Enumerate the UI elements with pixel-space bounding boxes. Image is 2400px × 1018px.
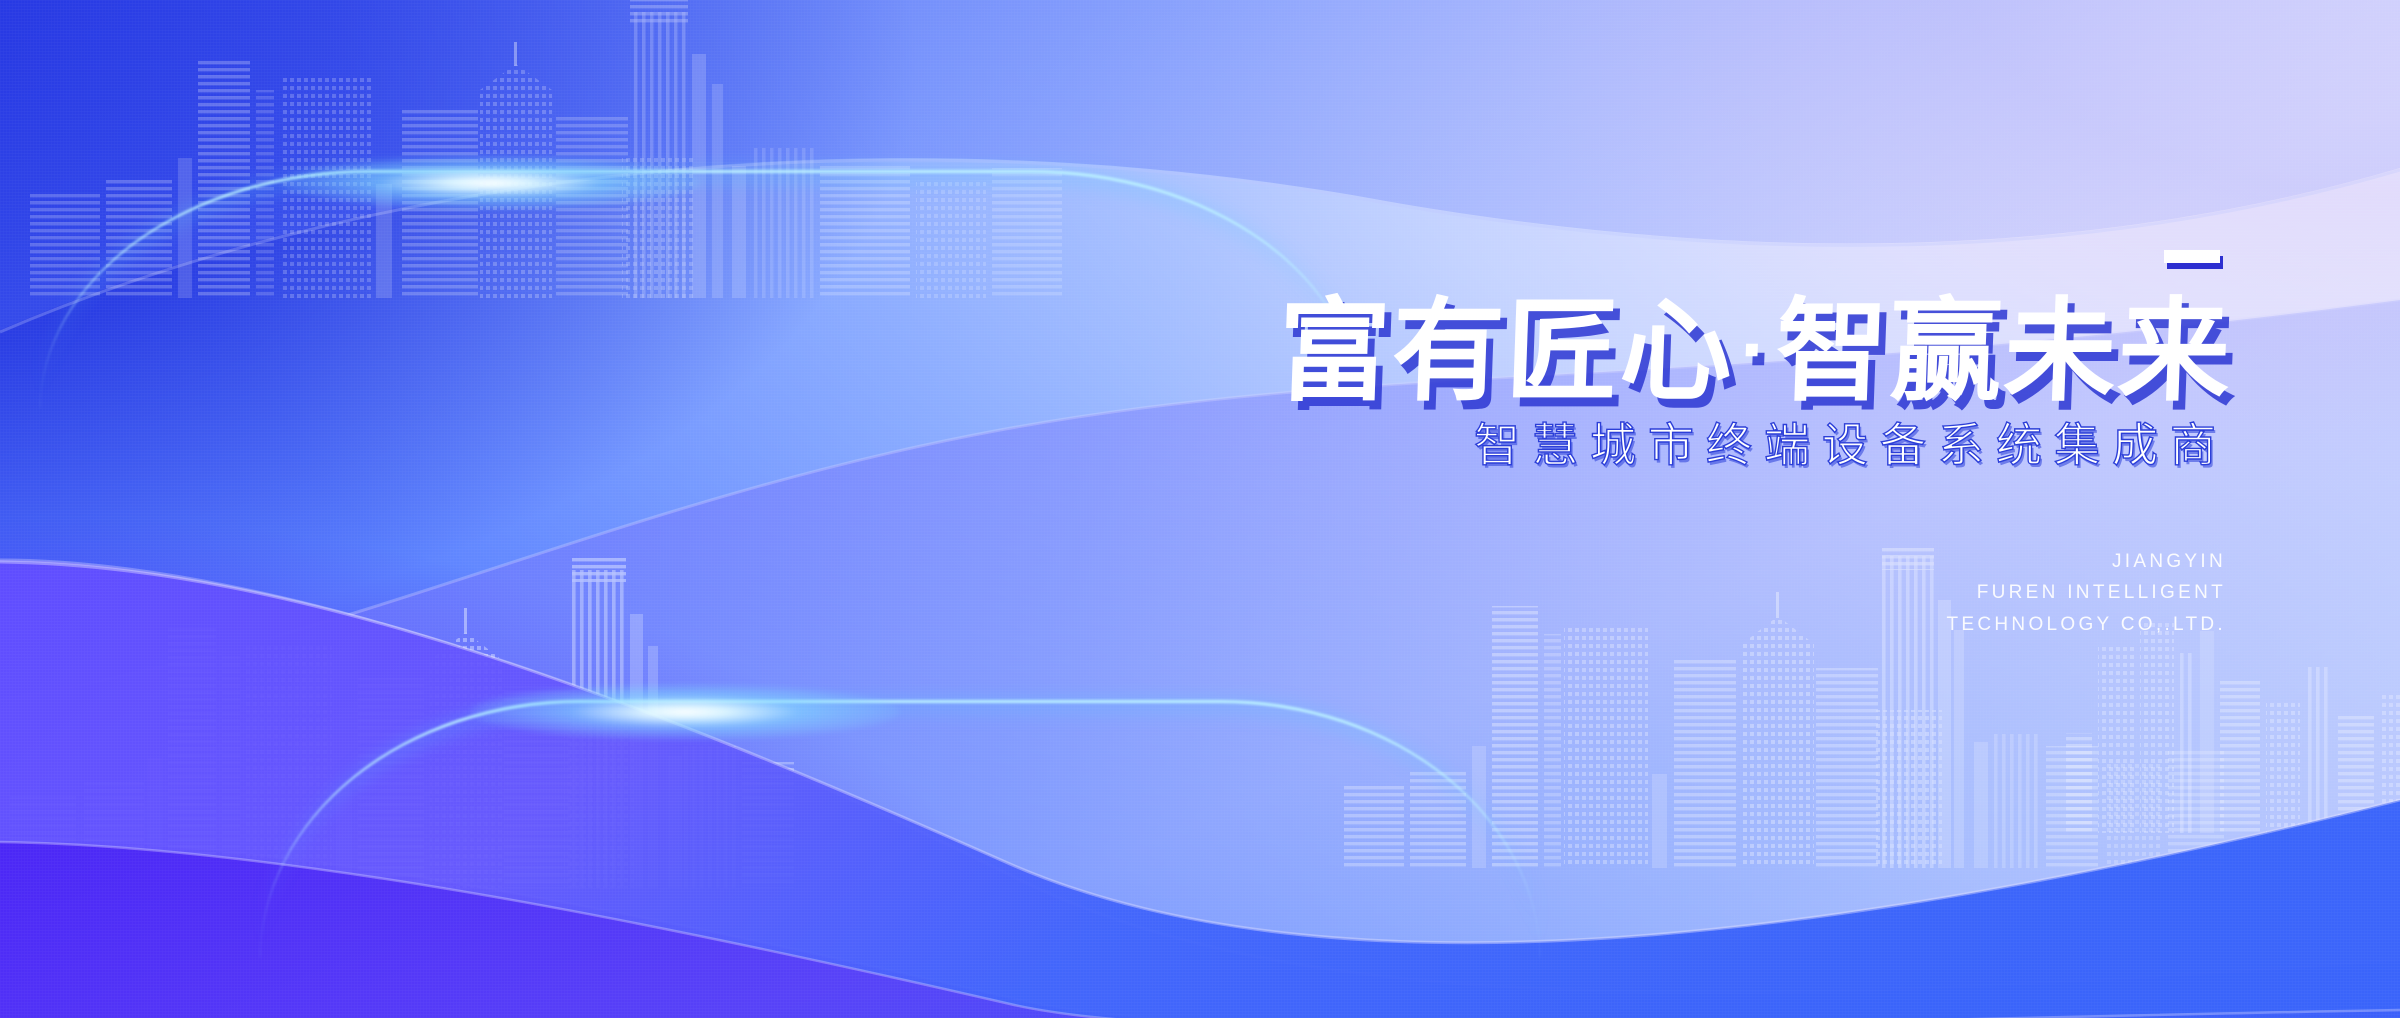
headline-block: 富有匠心·智赢未来 智慧城市终端设备系统集成商 JIANGYIN FUREN I… xyxy=(1052,250,2232,640)
company-name-english: JIANGYIN FUREN INTELLIGENT TECHNOLOGY CO… xyxy=(1052,546,2232,640)
banner-canvas: 富有匠心·智赢未来 智慧城市终端设备系统集成商 JIANGYIN FUREN I… xyxy=(0,0,2400,1018)
company-line-1: JIANGYIN xyxy=(1052,546,2226,577)
title-part-one: 富有匠心 xyxy=(1276,289,1736,414)
page-title: 富有匠心·智赢未来 xyxy=(1050,296,2234,408)
company-line-3: TECHNOLOGY CO,.LTD. xyxy=(1052,609,2226,640)
company-line-2: FUREN INTELLIGENT xyxy=(1052,577,2226,608)
title-separator-dot: · xyxy=(1732,302,1777,396)
title-part-two: 智赢未来 xyxy=(1774,289,2234,414)
page-subtitle: 智慧城市终端设备系统集成商 xyxy=(1052,422,2232,468)
decorative-dash-icon xyxy=(2164,250,2220,263)
